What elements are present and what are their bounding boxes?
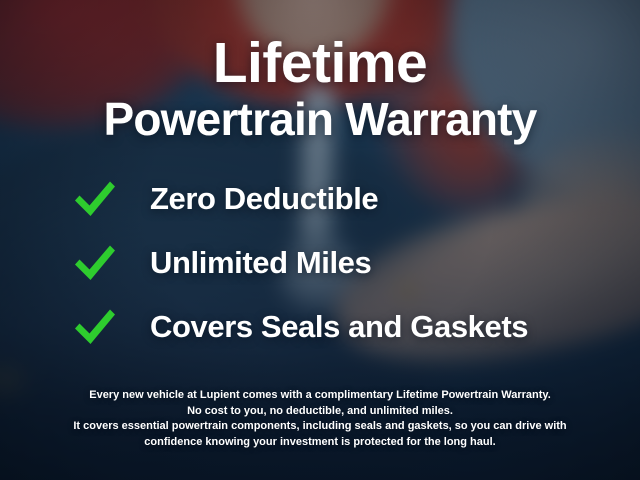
list-item: Unlimited Miles [72,242,592,284]
feature-label: Unlimited Miles [150,245,371,281]
check-icon [72,307,118,347]
list-item: Covers Seals and Gaskets [72,306,592,348]
page-title-line-2: Powertrain Warranty [0,93,640,145]
fineprint-line: Every new vehicle at Lupient comes with … [28,388,612,404]
warranty-promo-banner: Lifetime Powertrain Warranty Zero Deduct… [0,0,640,480]
page-title-line-1: Lifetime [0,32,640,94]
banner-content: Lifetime Powertrain Warranty Zero Deduct… [0,0,640,480]
fineprint-line: It covers essential powertrain component… [28,419,612,435]
check-icon [72,243,118,283]
feature-label: Zero Deductible [150,181,378,217]
check-icon [72,179,118,219]
fineprint-disclaimer: Every new vehicle at Lupient comes with … [0,388,640,450]
list-item: Zero Deductible [72,178,592,220]
feature-label: Covers Seals and Gaskets [150,309,528,345]
fineprint-line: confidence knowing your investment is pr… [28,435,612,451]
feature-list: Zero Deductible Unlimited Miles Covers S… [72,178,592,370]
fineprint-line: No cost to you, no deductible, and unlim… [28,404,612,420]
